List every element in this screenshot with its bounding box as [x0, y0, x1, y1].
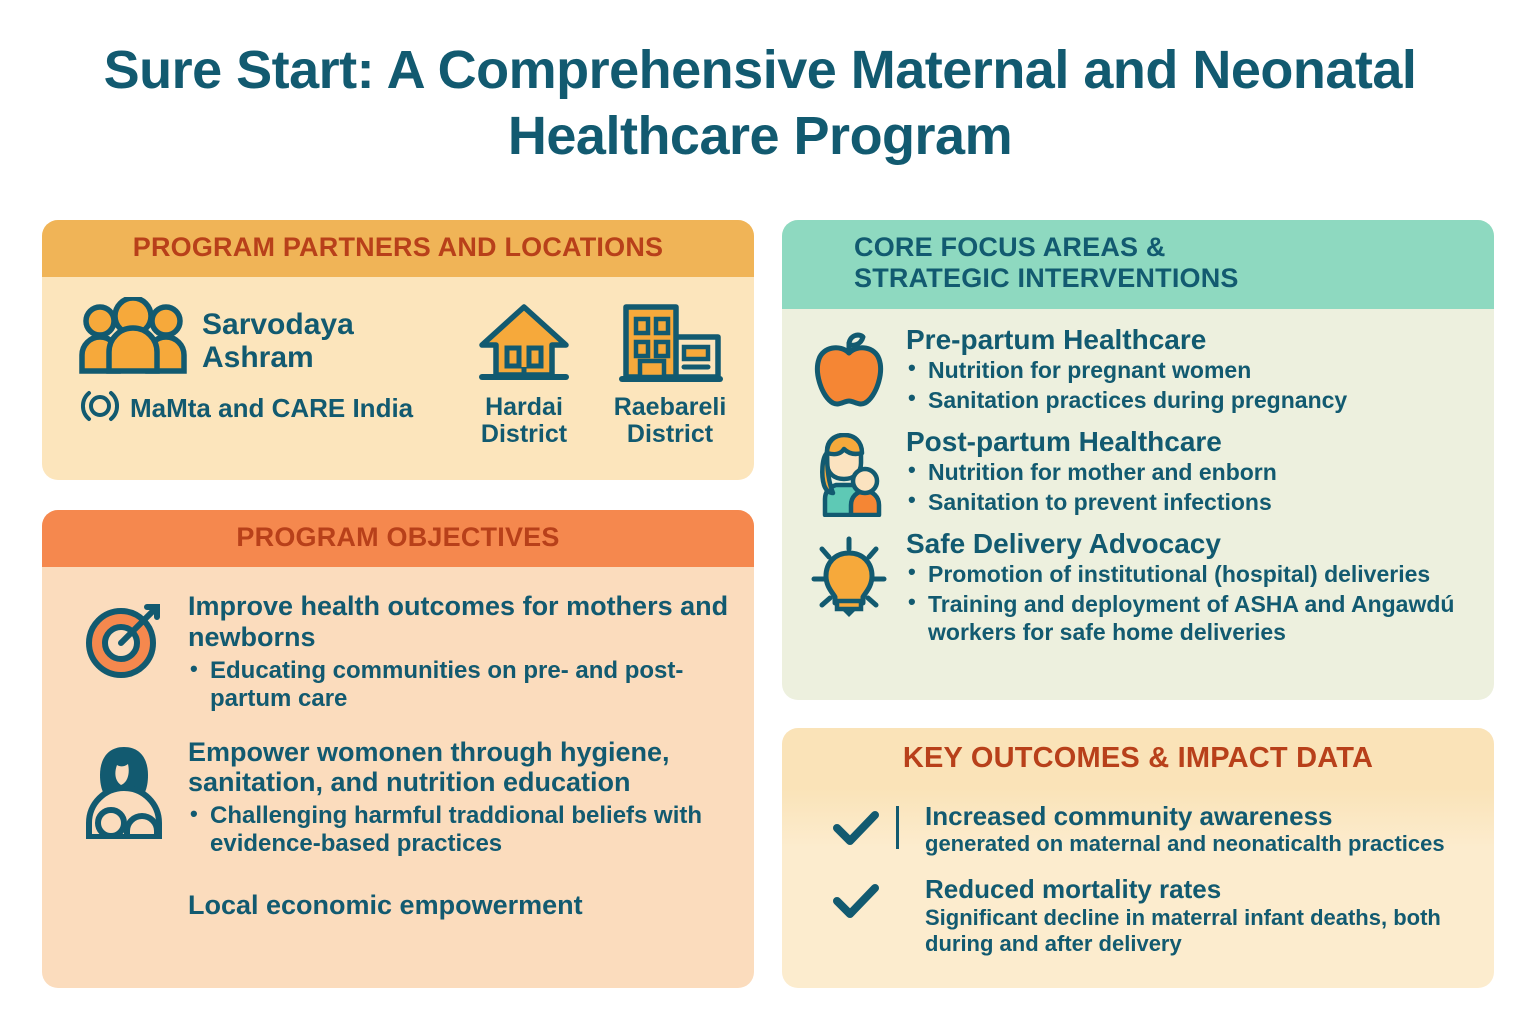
panel-focus-header: CORE FOCUS AREAS & STRATEGIC INTERVENTIO… [782, 220, 1494, 309]
panel-program-objectives: PROGRAM OBJECTIVES Improve health outcom… [42, 510, 754, 988]
panel-core-focus-areas: CORE FOCUS AREAS & STRATEGIC INTERVENTIO… [782, 220, 1494, 700]
focus-bullets: Promotion of institutional (hospital) de… [906, 561, 1476, 646]
focus-title-line1: CORE FOCUS AREAS & [854, 232, 1476, 263]
focus-item: Pre-partum Healthcare Nutrition for preg… [800, 325, 1476, 415]
panel-partners-title: PROGRAM PARTNERS AND LOCATIONS [60, 232, 736, 263]
check-icon [832, 875, 880, 928]
panel-program-partners: PROGRAM PARTNERS AND LOCATIONS [42, 220, 754, 480]
panel-outcomes-body: Increased community awareness generated … [782, 790, 1494, 975]
focus-text: Safe Delivery Advocacy Promotion of inst… [906, 529, 1476, 647]
objective-footer: Local economic empowerment [60, 890, 736, 921]
outcome-divider [896, 806, 899, 850]
objective-item: Empower womonen through hygiene, sanitat… [60, 735, 736, 858]
panel-objectives-header: PROGRAM OBJECTIVES [42, 510, 754, 567]
outcome-text: Increased community awareness generated … [925, 802, 1445, 858]
building-icon [616, 372, 724, 389]
outcome-heading: Reduced mortality rates [925, 875, 1476, 904]
panel-partners-header: PROGRAM PARTNERS AND LOCATIONS [42, 220, 754, 277]
hardai-line2: District [464, 421, 584, 448]
partner-name-line2: Ashram [202, 342, 354, 374]
focus-bullet: Sanitation to prevent infections [906, 489, 1277, 517]
mamta-logo-icon [78, 384, 122, 433]
objective-heading: Improve health outcomes for mothers and … [188, 591, 736, 653]
focus-heading: Pre-partum Healthcare [906, 325, 1347, 356]
objective-heading: Empower womonen through hygiene, sanitat… [188, 737, 736, 799]
location-hardai: Hardai District [464, 301, 584, 447]
hardai-line1: Hardai [464, 394, 584, 421]
location-raebareli: Raebareli District [610, 301, 730, 447]
partners-left-column: Sarvodaya Ashram [78, 297, 464, 433]
objective-bullets: Challenging harmful traddional beliefs w… [188, 802, 736, 858]
raebareli-line2: District [610, 421, 730, 448]
objective-bullet: Educating communities on pre- and post-p… [188, 657, 736, 713]
outcome-detail: Significant decline in materral infant d… [925, 905, 1476, 957]
outcome-item: Reduced mortality rates Significant decl… [800, 875, 1476, 957]
outcome-detail: generated on maternal and neonaticalth p… [925, 831, 1445, 857]
locations-group: Hardai District [464, 297, 730, 447]
panel-objectives-body: Improve health outcomes for mothers and … [42, 567, 754, 938]
house-icon [476, 372, 572, 389]
focus-bullet: Sanitation practices during pregnancy [906, 387, 1347, 415]
focus-bullet: Promotion of institutional (hospital) de… [906, 561, 1476, 589]
objective-item: Improve health outcomes for mothers and … [60, 589, 736, 712]
panel-outcomes-header: KEY OUTCOMES & IMPACT DATA [782, 728, 1494, 790]
focus-title-line2: STRATEGIC INTERVENTIONS [854, 263, 1476, 294]
panel-focus-title: CORE FOCUS AREAS & STRATEGIC INTERVENTIO… [854, 232, 1476, 295]
objective-text: Empower womonen through hygiene, sanitat… [188, 735, 736, 858]
focus-text: Pre-partum Healthcare Nutrition for preg… [906, 325, 1347, 415]
focus-heading: Safe Delivery Advocacy [906, 529, 1476, 560]
panel-objectives-title: PROGRAM OBJECTIVES [60, 522, 736, 553]
focus-item: Post-partum Healthcare Nutrition for mot… [800, 427, 1476, 517]
outcome-heading: Increased community awareness [925, 802, 1445, 831]
objective-text: Improve health outcomes for mothers and … [188, 589, 736, 712]
objective-bullets: Educating communities on pre- and post-p… [188, 657, 736, 713]
secondary-partner: MaMta and CARE India [78, 384, 464, 433]
mother-child-icon [74, 735, 174, 858]
panel-focus-body: Pre-partum Healthcare Nutrition for preg… [782, 309, 1494, 665]
focus-bullets: Nutrition for pregnant women Sanitation … [906, 357, 1347, 414]
check-icon [832, 802, 880, 855]
apple-icon [806, 325, 892, 415]
location-hardai-label: Hardai District [464, 394, 584, 447]
focus-heading: Post-partum Healthcare [906, 427, 1277, 458]
outcome-text: Reduced mortality rates Significant decl… [925, 875, 1476, 957]
focus-bullet: Nutrition for mother and enborn [906, 459, 1277, 487]
location-raebareli-label: Raebareli District [610, 394, 730, 447]
panel-outcomes-title: KEY OUTCOMES & IMPACT DATA [800, 742, 1476, 776]
focus-item: Safe Delivery Advocacy Promotion of inst… [800, 529, 1476, 647]
focus-bullets: Nutrition for mother and enborn Sanitati… [906, 459, 1277, 516]
panel-key-outcomes: KEY OUTCOMES & IMPACT DATA Increased com… [782, 728, 1494, 988]
focus-bullet: Nutrition for pregnant women [906, 357, 1347, 385]
raebareli-line1: Raebareli [610, 394, 730, 421]
target-icon [74, 589, 174, 712]
outcome-item: Increased community awareness generated … [800, 802, 1476, 858]
infographic-page: Sure Start: A Comprehensive Maternal and… [0, 0, 1536, 1024]
mother-baby-icon [806, 427, 892, 517]
secondary-partner-name: MaMta and CARE India [130, 393, 413, 424]
partner-name-line1: Sarvodaya [202, 309, 354, 341]
panel-partners-body: Sarvodaya Ashram [42, 277, 754, 465]
page-title: Sure Start: A Comprehensive Maternal and… [60, 38, 1460, 170]
partners-row: Sarvodaya Ashram [60, 291, 736, 447]
focus-text: Post-partum Healthcare Nutrition for mot… [906, 427, 1277, 517]
people-group-icon [78, 297, 188, 380]
focus-bullet: Training and deployment of ASHA and Anga… [906, 591, 1476, 646]
objective-bullet: Challenging harmful traddional beliefs w… [188, 802, 736, 858]
primary-partner: Sarvodaya Ashram [78, 297, 464, 380]
lightbulb-icon [806, 529, 892, 647]
primary-partner-name: Sarvodaya Ashram [202, 303, 354, 374]
